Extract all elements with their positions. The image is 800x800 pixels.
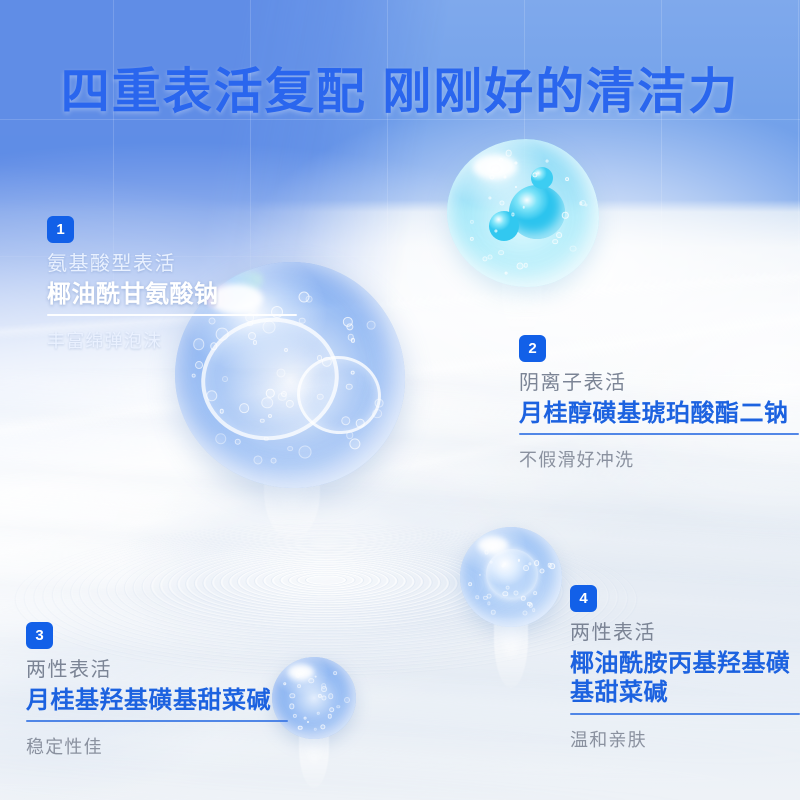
micro-bubble — [220, 409, 225, 414]
micro-bubble — [195, 361, 203, 369]
feature-block-4: 4 两性表活 椰油酰胺丙基羟基磺基甜菜碱 温和亲肤 — [570, 585, 800, 752]
feature-block-2: 2 阴离子表活 月桂醇磺基琥珀酸酯二钠 不假滑好冲洗 — [519, 335, 799, 473]
feature-caption-3: 稳定性佳 — [26, 736, 288, 759]
micro-bubble — [522, 610, 527, 615]
micro-bubble — [468, 583, 472, 587]
micro-bubble — [298, 725, 303, 730]
feature-kicker-1: 氨基酸型表活 — [47, 252, 297, 277]
micro-bubble — [268, 414, 272, 418]
micro-bubble — [253, 455, 262, 464]
micro-bubble — [317, 393, 324, 400]
micro-bubble — [350, 338, 354, 342]
micro-bubble — [556, 232, 562, 238]
micro-bubble — [297, 684, 301, 688]
micro-bubble — [547, 563, 552, 568]
micro-bubble — [375, 398, 384, 407]
micro-bubble — [521, 596, 525, 600]
micro-bubble — [278, 393, 287, 402]
micro-bubble — [349, 438, 360, 449]
micro-bubble — [500, 200, 505, 205]
micro-bubble — [479, 574, 481, 576]
micro-bubble — [483, 256, 488, 261]
bubble-cyan-core-tiny — [531, 167, 553, 189]
micro-bubble — [307, 721, 309, 723]
bubble-mid-surface — [460, 527, 562, 627]
feature-caption-4: 温和亲肤 — [570, 729, 800, 752]
micro-bubble — [470, 220, 474, 224]
micro-bubble — [505, 272, 508, 275]
micro-bubble — [546, 159, 549, 162]
bubble-cyan-core-small — [489, 211, 519, 241]
micro-bubble — [289, 704, 294, 709]
micro-bubble — [490, 561, 493, 564]
bubble-small-highlight — [288, 665, 314, 679]
micro-bubble — [314, 728, 316, 730]
feature-headline-3: 月桂基羟基磺基甜菜碱 — [26, 686, 288, 720]
micro-bubble — [487, 594, 492, 599]
micro-bubble — [491, 610, 495, 614]
micro-bubble — [234, 439, 241, 446]
micro-bubble — [304, 717, 307, 720]
bubble-mid-core — [486, 549, 538, 599]
micro-bubble — [540, 568, 545, 573]
micro-bubble — [292, 714, 296, 718]
feature-kicker-4: 两性表活 — [570, 621, 800, 646]
feature-caption-2: 不假滑好冲洗 — [519, 449, 799, 472]
feature-badge-3: 3 — [26, 622, 53, 649]
micro-bubble — [317, 355, 323, 361]
micro-bubble — [299, 317, 306, 324]
micro-bubble — [327, 714, 331, 718]
bubble-mid-blue — [460, 527, 562, 627]
micro-bubble — [320, 724, 325, 729]
micro-bubble — [565, 177, 569, 181]
micro-bubble — [317, 712, 320, 715]
micro-bubble — [523, 263, 527, 267]
feature-underline-1 — [47, 314, 297, 316]
micro-bubble — [570, 245, 577, 252]
micro-bubble — [489, 196, 492, 199]
micro-bubble — [309, 678, 314, 683]
micro-bubble — [314, 675, 317, 678]
micro-bubble — [191, 373, 196, 378]
feature-badge-2: 2 — [519, 335, 546, 362]
feature-block-3: 3 两性表活 月桂基羟基磺基甜菜碱 稳定性佳 — [26, 622, 288, 760]
micro-bubble — [337, 705, 340, 708]
poster-canvas: 四重表活复配 刚刚好的清洁力 1 氨基酸型表活 椰油酰甘氨酸钠 丰富绵弹泡沫 2… — [0, 0, 800, 800]
micro-bubble — [264, 437, 269, 442]
micro-bubble — [562, 212, 568, 218]
feature-kicker-3: 两性表活 — [26, 658, 288, 683]
micro-bubble — [350, 371, 355, 376]
micro-bubble — [505, 150, 512, 157]
micro-bubble — [505, 585, 510, 590]
micro-bubble — [270, 457, 277, 464]
micro-bubble — [523, 565, 529, 571]
page-title: 四重表活复配 刚刚好的清洁力 — [0, 52, 800, 123]
micro-bubble — [483, 596, 487, 600]
micro-bubble — [499, 250, 505, 256]
micro-bubble — [239, 403, 249, 413]
feature-headline-2: 月桂醇磺基琥珀酸酯二钠 — [519, 399, 799, 433]
feature-underline-2 — [519, 433, 799, 435]
micro-bubble — [366, 321, 375, 330]
micro-bubble — [534, 560, 540, 566]
micro-bubble — [346, 383, 353, 390]
micro-bubble — [487, 255, 492, 260]
feature-underline-3 — [26, 720, 288, 722]
bubble-mid-highlight — [478, 537, 508, 553]
micro-bubble — [215, 433, 227, 445]
feature-kicker-2: 阴离子表活 — [519, 371, 799, 396]
micro-bubble — [553, 239, 559, 245]
micro-bubble — [488, 602, 491, 605]
feature-block-1: 1 氨基酸型表活 椰油酰甘氨酸钠 丰富绵弹泡沫 — [47, 216, 297, 354]
feature-badge-4: 4 — [570, 585, 597, 612]
micro-bubble — [344, 697, 350, 703]
micro-bubble — [356, 419, 365, 428]
feature-headline-4: 椰油酰胺丙基羟基磺基甜菜碱 — [570, 649, 800, 713]
micro-bubble — [372, 409, 382, 419]
micro-bubble — [328, 693, 334, 699]
micro-bubble — [333, 671, 337, 675]
bubble-cyan-highlight — [473, 155, 517, 179]
bubble-cyan — [447, 139, 599, 287]
micro-bubble — [287, 446, 293, 452]
feature-underline-4 — [570, 713, 800, 715]
micro-bubble — [475, 596, 478, 599]
micro-bubble — [470, 237, 474, 241]
micro-bubble — [299, 291, 310, 302]
micro-bubble — [321, 683, 327, 689]
micro-bubble — [321, 696, 326, 701]
micro-bubble — [222, 376, 228, 382]
micro-bubble — [533, 591, 537, 595]
micro-bubble — [261, 397, 273, 409]
bubble-cyan-surface — [447, 139, 599, 287]
feature-caption-1: 丰富绵弹泡沫 — [47, 330, 297, 353]
feature-badge-1: 1 — [47, 216, 74, 243]
micro-bubble — [515, 186, 517, 188]
micro-bubble — [532, 609, 536, 613]
micro-bubble — [516, 263, 523, 270]
micro-bubble — [329, 707, 335, 713]
feature-headline-1: 椰油酰甘氨酸钠 — [47, 280, 297, 314]
micro-bubble — [290, 693, 295, 698]
micro-bubble — [298, 446, 311, 459]
